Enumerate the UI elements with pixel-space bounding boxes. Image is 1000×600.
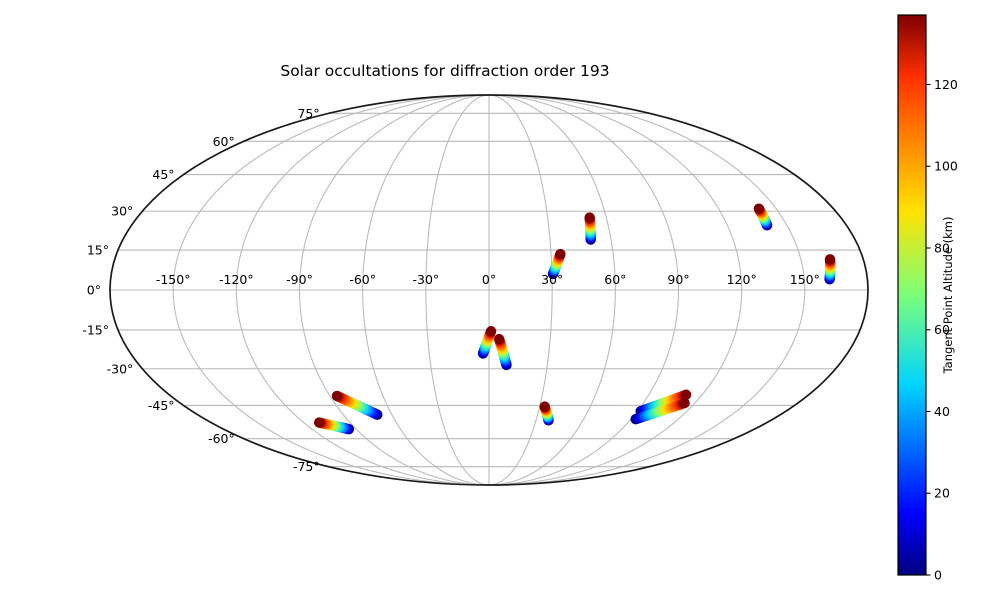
longitude-tick-label: 30°: [541, 272, 563, 287]
occultation-track: [478, 326, 496, 359]
latitude-tick-label: 75°: [297, 106, 319, 121]
track-point: [314, 417, 324, 427]
graticule-gridlines: [110, 95, 868, 485]
longitude-tick-label: -120°: [219, 272, 254, 287]
occultation-track: [754, 204, 773, 231]
longitude-tick-label: 150°: [790, 272, 820, 287]
latitude-tick-label: -75°: [293, 459, 320, 474]
longitude-tick-label: -60°: [349, 272, 376, 287]
latitude-tick-label: -45°: [148, 398, 175, 413]
track-point: [584, 212, 594, 222]
occultation-track: [494, 334, 512, 370]
track-point: [486, 326, 496, 336]
occultation-tracks: [314, 204, 836, 435]
colorbar-gradient: [898, 15, 926, 575]
occultation-track: [584, 212, 595, 244]
occultation-track: [824, 254, 835, 284]
longitude-tick-label: -30°: [412, 272, 439, 287]
map-plot-area: -150°-120°-90°-60°-30°0°30°60°90°120°150…: [0, 0, 1000, 600]
longitude-tick-label: -90°: [286, 272, 313, 287]
track-point: [754, 204, 764, 214]
longitude-tick-label: 0°: [482, 272, 496, 287]
track-point: [825, 254, 835, 264]
track-point: [555, 249, 565, 259]
latitude-tick-label: -60°: [208, 431, 235, 446]
longitude-tick-label: 60°: [604, 272, 626, 287]
colorbar-tick-label: 40: [934, 404, 950, 419]
longitude-tick-label: -150°: [156, 272, 191, 287]
track-point: [494, 334, 504, 344]
track-point: [332, 391, 342, 401]
track-point: [539, 401, 549, 411]
latitude-tick-label: 60°: [213, 134, 235, 149]
latitude-tick-label: 15°: [87, 243, 109, 258]
latitude-tick-label: -30°: [107, 361, 134, 376]
colorbar-tick-label: 0: [934, 568, 942, 583]
latitude-tick-label: 30°: [111, 204, 133, 219]
longitude-tick-labels: -150°-120°-90°-60°-30°0°30°60°90°120°150…: [156, 272, 820, 287]
colorbar-tick-label: 20: [934, 486, 950, 501]
colorbar-axis-label: Tangent Point Altitude (km): [941, 217, 955, 374]
latitude-tick-label: -15°: [82, 322, 109, 337]
figure-canvas: Solar occultations for diffraction order…: [0, 0, 1000, 600]
longitude-tick-label: 90°: [667, 272, 689, 287]
latitude-tick-label: 0°: [87, 283, 101, 298]
longitude-tick-label: 120°: [727, 272, 757, 287]
latitude-tick-label: 45°: [152, 167, 174, 182]
colorbar-tick-label: 100: [934, 159, 958, 174]
colorbar-tick-label: 120: [934, 77, 958, 92]
track-point: [679, 398, 689, 408]
